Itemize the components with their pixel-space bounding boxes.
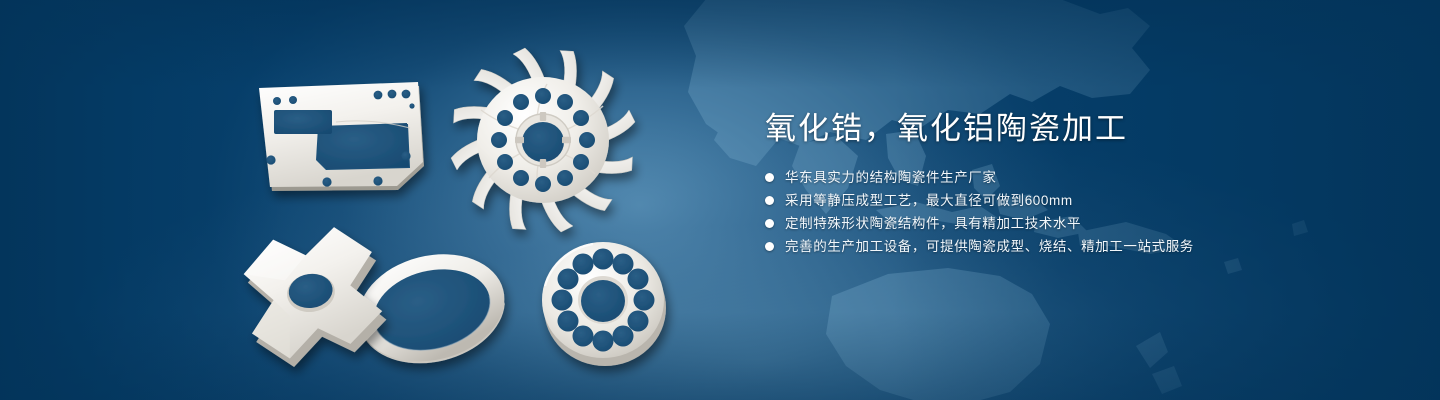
banner-text-block: 氧化锆，氧化铝陶瓷加工 华东具实力的结构陶瓷件生产厂家 采用等静压成型工艺，最大…: [765, 110, 1405, 262]
bullet-dot-icon: [765, 219, 774, 228]
product-ceramic-flat-plate: [259, 82, 424, 191]
bullet-dot-icon: [765, 242, 774, 251]
feature-text: 完善的生产加工设备，可提供陶瓷成型、烧结、精加工一站式服务: [785, 239, 1194, 255]
hero-banner: 氧化锆，氧化铝陶瓷加工 华东具实力的结构陶瓷件生产厂家 采用等静压成型工艺，最大…: [0, 0, 1440, 400]
product-ceramic-perforated-disc: [542, 242, 666, 366]
feature-list-item: 完善的生产加工设备，可提供陶瓷成型、烧结、精加工一站式服务: [765, 239, 1405, 255]
feature-text: 华东具实力的结构陶瓷件生产厂家: [785, 170, 997, 186]
banner-feature-list: 华东具实力的结构陶瓷件生产厂家 采用等静压成型工艺，最大直径可做到600mm 定…: [765, 170, 1405, 255]
feature-list-item: 定制特殊形状陶瓷结构件，具有精加工技术水平: [765, 216, 1405, 232]
feature-text: 采用等静压成型工艺，最大直径可做到600mm: [785, 193, 1073, 209]
feature-text: 定制特殊形状陶瓷结构件，具有精加工技术水平: [785, 216, 1081, 232]
banner-headline: 氧化锆，氧化铝陶瓷加工: [765, 110, 1405, 148]
bullet-dot-icon: [765, 173, 774, 182]
feature-list-item: 采用等静压成型工艺，最大直径可做到600mm: [765, 193, 1405, 209]
product-photo-group: [0, 0, 740, 400]
feature-list-item: 华东具实力的结构陶瓷件生产厂家: [765, 170, 1405, 186]
product-ceramic-impeller-disc: [448, 45, 637, 234]
bullet-dot-icon: [765, 196, 774, 205]
